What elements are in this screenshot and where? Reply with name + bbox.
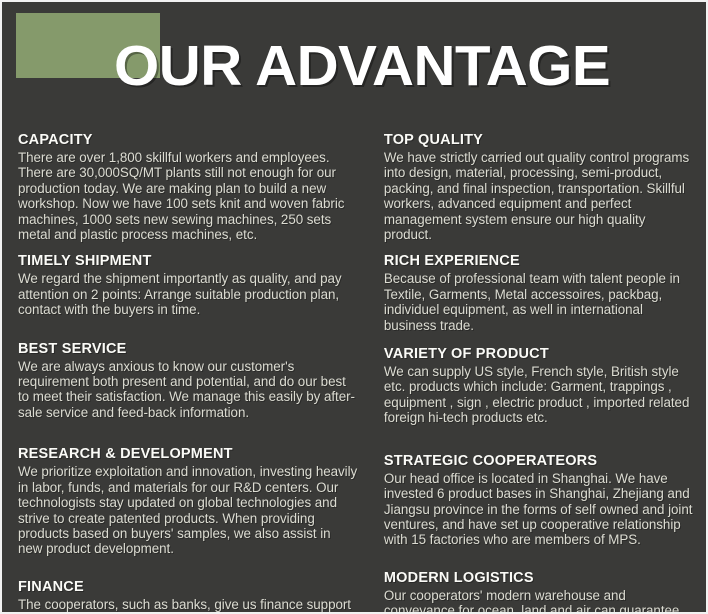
section-body: Because of professional team with talent… — [384, 271, 694, 333]
section-heading: FINANCE — [18, 579, 358, 596]
section-body: We are always anxious to know our custom… — [18, 359, 358, 421]
section-modern-logistics: MODERN LOGISTICS Our cooperators' modern… — [384, 570, 694, 614]
section-body: We prioritize exploitation and innovatio… — [18, 464, 358, 556]
section-body: We regard the shipment importantly as qu… — [18, 271, 358, 317]
section-top-quality: TOP QUALITY We have strictly carried out… — [384, 132, 694, 242]
section-best-service: BEST SERVICE We are always anxious to kn… — [18, 341, 358, 421]
section-heading: RICH EXPERIENCE — [384, 253, 694, 270]
section-heading: TOP QUALITY — [384, 132, 694, 149]
section-research-development: RESEARCH & DEVELOPMENT We prioritize exp… — [18, 446, 358, 556]
section-body: Our cooperators' modern warehouse and co… — [384, 588, 694, 614]
section-variety-of-product: VARIETY OF PRODUCT We can supply US styl… — [384, 346, 694, 426]
section-heading: TIMELY SHIPMENT — [18, 253, 358, 270]
section-finance: FINANCE The cooperators, such as banks, … — [18, 579, 358, 614]
poster-header: OUR ADVANTAGE — [2, 2, 706, 118]
section-body: We have strictly carried out quality con… — [384, 150, 694, 242]
section-capacity: CAPACITY There are over 1,800 skillful w… — [18, 132, 358, 242]
section-heading: CAPACITY — [18, 132, 358, 149]
section-heading: STRATEGIC COOPERATEORS — [384, 453, 694, 470]
section-heading: RESEARCH & DEVELOPMENT — [18, 446, 358, 463]
section-timely-shipment: TIMELY SHIPMENT We regard the shipment i… — [18, 253, 358, 317]
section-body: There are over 1,800 skillful workers an… — [18, 150, 358, 242]
section-strategic-cooperateors: STRATEGIC COOPERATEORS Our head office i… — [384, 453, 694, 548]
page-title: OUR ADVANTAGE — [114, 38, 610, 95]
section-body: We can supply US style, French style, Br… — [384, 364, 694, 426]
section-heading: VARIETY OF PRODUCT — [384, 346, 694, 363]
left-column: CAPACITY There are over 1,800 skillful w… — [2, 118, 372, 612]
section-heading: BEST SERVICE — [18, 341, 358, 358]
right-column: TOP QUALITY We have strictly carried out… — [372, 118, 706, 612]
advantage-poster: OUR ADVANTAGE CAPACITY There are over 1,… — [0, 0, 708, 614]
section-body: The cooperators, such as banks, give us … — [18, 597, 358, 614]
section-heading: MODERN LOGISTICS — [384, 570, 694, 587]
section-rich-experience: RICH EXPERIENCE Because of professional … — [384, 253, 694, 333]
section-body: Our head office is located in Shanghai. … — [384, 471, 694, 548]
content-columns: CAPACITY There are over 1,800 skillful w… — [2, 118, 706, 612]
